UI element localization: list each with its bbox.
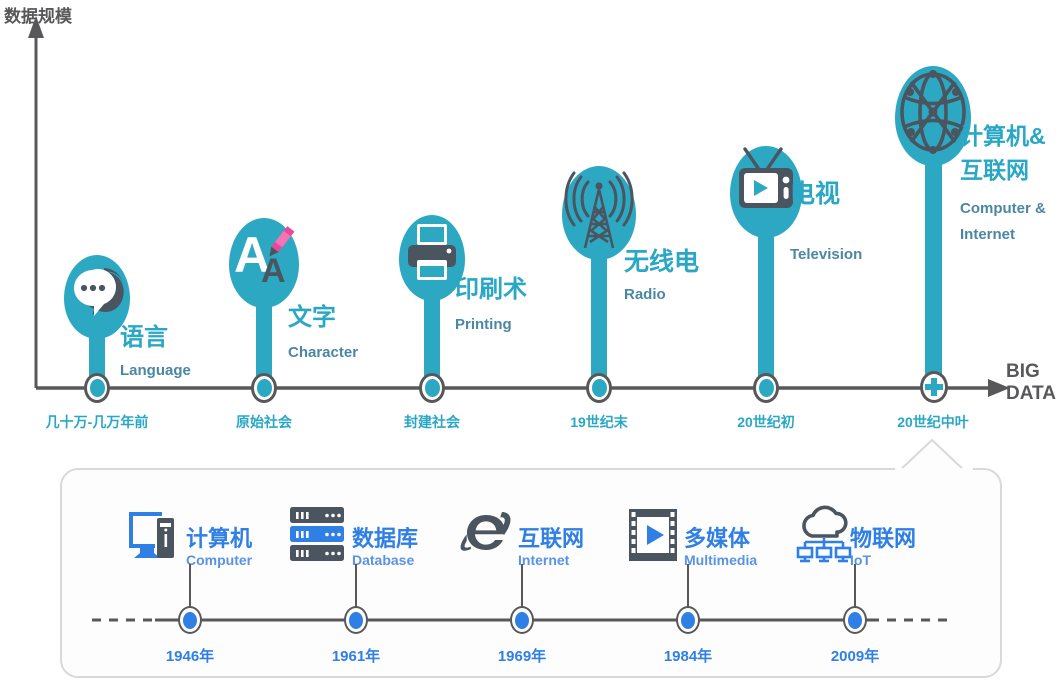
panel-year-label: 1946年 xyxy=(166,645,214,666)
panel-year-label: 1984年 xyxy=(664,645,712,666)
milestone-title-cn: 印刷术 xyxy=(455,277,527,304)
milestone-title-en: Language xyxy=(120,362,191,379)
timeline-node-expand[interactable] xyxy=(920,371,948,403)
x-axis-end-label: BIG DATA xyxy=(1006,361,1056,405)
pin-stem xyxy=(591,242,607,382)
milestone-era-label: 封建社会 xyxy=(404,412,460,432)
milestone-title-en: Television xyxy=(790,246,862,263)
panel-timeline-node[interactable] xyxy=(344,606,368,634)
panel-node-tick xyxy=(189,564,191,608)
milestone-title-cn: 电视 xyxy=(790,180,840,208)
node-dot xyxy=(592,379,607,397)
panel-node-tick xyxy=(687,564,689,608)
milestone-title-en-line1: Computer & xyxy=(960,200,1046,217)
timeline-node[interactable] xyxy=(586,373,612,403)
milestone-era-label: 20世纪中叶 xyxy=(897,412,969,432)
panel-title-en: Database xyxy=(352,552,414,568)
panel-node-tick xyxy=(521,564,523,608)
radio-tower-icon xyxy=(566,172,632,250)
globe-network-icon xyxy=(898,70,968,154)
panel-timeline-node[interactable] xyxy=(510,606,534,634)
panel-node-tick xyxy=(355,564,357,608)
big-data-line1: BIG xyxy=(1006,361,1056,383)
database-server-icon xyxy=(289,506,345,564)
big-data-line2: DATA xyxy=(1006,383,1056,405)
node-dot xyxy=(848,612,862,629)
milestone-title-cn-line1: 计算机& xyxy=(960,124,1046,150)
y-axis-label: 数据规模 xyxy=(4,2,72,27)
internet-explorer-icon xyxy=(458,505,516,563)
panel-node-tick xyxy=(854,564,856,608)
timeline-node[interactable] xyxy=(251,373,277,403)
panel-year-label: 2009年 xyxy=(831,645,879,666)
timeline-node[interactable] xyxy=(84,373,110,403)
pin-stem xyxy=(758,222,774,382)
node-dot xyxy=(349,612,363,629)
panel-title-cn: 数据库 xyxy=(352,521,418,553)
film-strip-icon xyxy=(628,508,678,562)
timeline-node[interactable] xyxy=(419,373,445,403)
infographic-canvas: 数据规模 BIG DATA 语言 Language 几十万-几万年前 A A xyxy=(0,0,1062,695)
panel-timeline-node[interactable] xyxy=(843,606,867,634)
milestone-era-label: 原始社会 xyxy=(236,412,292,432)
panel-notch-mask xyxy=(895,468,973,472)
panel-timeline-node[interactable] xyxy=(178,606,202,634)
milestone-title-en: Radio xyxy=(624,286,666,303)
milestone-title-en: Printing xyxy=(455,316,512,333)
panel-title-en: Computer xyxy=(186,552,252,568)
panel-title-cn: 多媒体 xyxy=(684,521,750,553)
milestone-era-label: 几十万-几万年前 xyxy=(46,412,149,432)
panel-year-label: 1961年 xyxy=(332,645,380,666)
letter-a-pencil-icon: A A xyxy=(233,224,295,296)
panel-timeline-node[interactable] xyxy=(676,606,700,634)
milestone-title-cn: 语言 xyxy=(120,325,168,352)
milestone-title-en: Character xyxy=(288,344,358,361)
node-dot xyxy=(515,612,529,629)
panel-title-en: Multimedia xyxy=(684,552,757,568)
milestone-title-cn-line2: 互联网 xyxy=(960,158,1029,184)
cloud-iot-icon xyxy=(795,506,853,564)
milestone-era-label: 20世纪初 xyxy=(737,412,795,432)
panel-title-en: Internet xyxy=(518,552,569,568)
node-dot xyxy=(425,379,440,397)
milestone-title-cn: 文字 xyxy=(288,305,336,332)
node-dot xyxy=(257,379,272,397)
node-dot xyxy=(90,379,105,397)
node-dot xyxy=(759,379,774,397)
milestone-title-en-line2: Internet xyxy=(960,226,1015,243)
speech-bubble-icon xyxy=(70,262,126,326)
panel-title-cn: 互联网 xyxy=(518,521,584,553)
node-dot xyxy=(183,612,197,629)
milestone-title-cn: 无线电 xyxy=(624,248,699,276)
printer-icon xyxy=(406,222,458,286)
timeline-node[interactable] xyxy=(753,373,779,403)
pin-stem xyxy=(925,150,942,378)
panel-year-label: 1969年 xyxy=(498,645,546,666)
panel-title-cn: 计算机 xyxy=(186,521,252,553)
plus-icon xyxy=(925,378,943,396)
svg-text:A: A xyxy=(261,252,286,290)
node-dot xyxy=(681,612,695,629)
panel-title-cn: 物联网 xyxy=(850,521,916,553)
desktop-computer-icon xyxy=(126,506,180,564)
milestone-era-label: 19世纪末 xyxy=(570,412,628,432)
